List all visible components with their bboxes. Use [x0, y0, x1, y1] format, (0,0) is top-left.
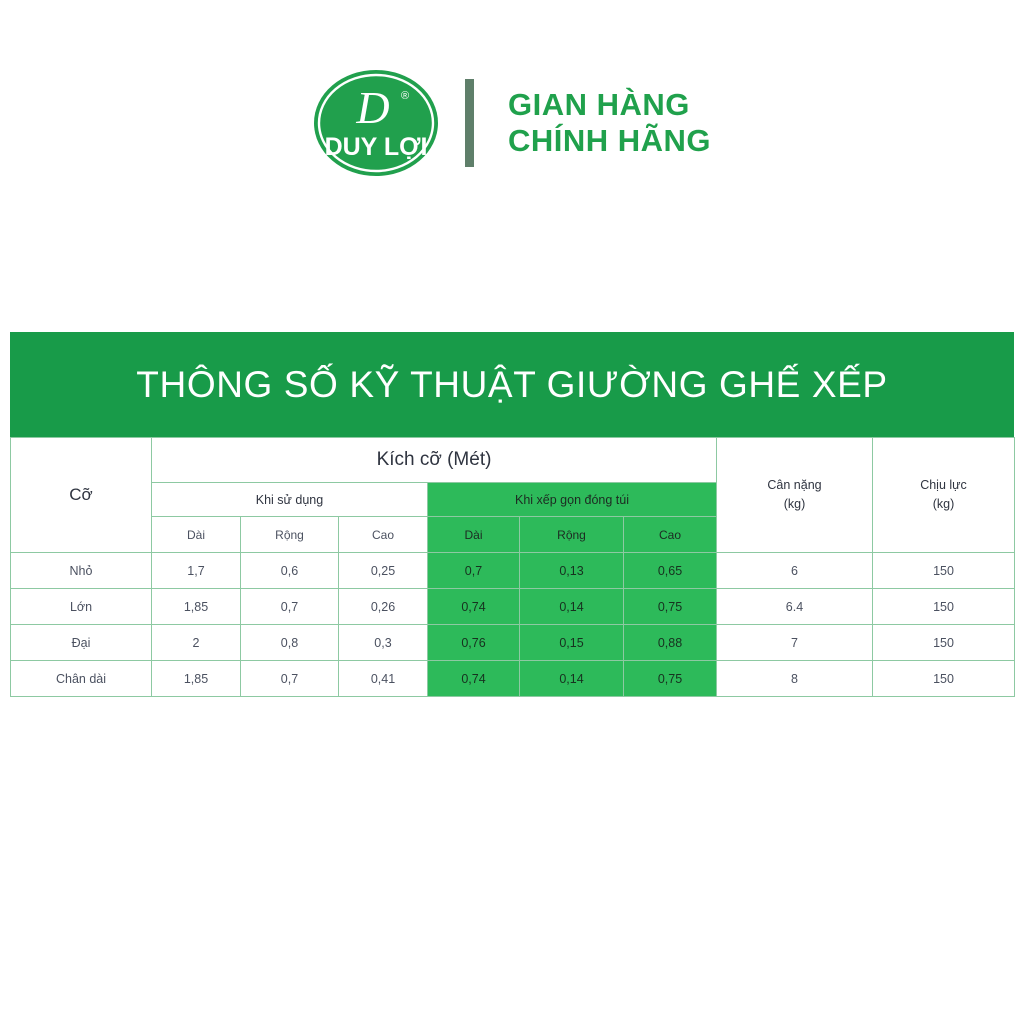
cell-bag-length: 0,74: [428, 661, 520, 697]
cell-size: Lớn: [11, 589, 152, 625]
brand-tagline: GIAN HÀNG CHÍNH HÃNG: [508, 87, 711, 158]
duy-loi-logo: D ® DUY LỢI: [313, 69, 439, 177]
spec-table-title: THÔNG SỐ KỸ THUẬT GIƯỜNG GHẾ XẾP: [10, 332, 1014, 437]
spec-table-block: THÔNG SỐ KỸ THUẬT GIƯỜNG GHẾ XẾP Cỡ Kích…: [10, 332, 1014, 697]
cell-weight: 8: [717, 661, 873, 697]
cell-load: 150: [873, 625, 1015, 661]
header-weight: Cân nặng (kg): [717, 438, 873, 553]
cell-use-width: 0,6: [241, 553, 339, 589]
header-bag-height: Cao: [624, 517, 717, 553]
svg-text:®: ®: [401, 90, 409, 102]
cell-use-width: 0,7: [241, 661, 339, 697]
header-load-line1: Chịu lực: [873, 476, 1014, 495]
cell-bag-height: 0,88: [624, 625, 717, 661]
cell-use-length: 1,85: [152, 661, 241, 697]
cell-weight: 7: [717, 625, 873, 661]
cell-use-height: 0,3: [339, 625, 428, 661]
svg-text:D: D: [355, 82, 389, 133]
cell-bag-height: 0,75: [624, 661, 717, 697]
cell-bag-width: 0,13: [520, 553, 624, 589]
svg-text:DUY LỢI: DUY LỢI: [325, 133, 428, 161]
cell-use-length: 1,7: [152, 553, 241, 589]
cell-use-height: 0,41: [339, 661, 428, 697]
cell-bag-width: 0,14: [520, 661, 624, 697]
cell-load: 150: [873, 589, 1015, 625]
table-row: Chân dài 1,85 0,7 0,41 0,74 0,14 0,75 8 …: [11, 661, 1015, 697]
header-size: Cỡ: [11, 438, 152, 553]
cell-weight: 6: [717, 553, 873, 589]
cell-use-length: 1,85: [152, 589, 241, 625]
cell-use-width: 0,8: [241, 625, 339, 661]
spec-table-head: Cỡ Kích cỡ (Mét) Cân nặng (kg) Chịu lực …: [11, 438, 1015, 553]
brand-lockup: D ® DUY LỢI GIAN HÀNG CHÍNH HÃNG: [313, 69, 711, 177]
tagline-line-1: GIAN HÀNG: [508, 87, 711, 123]
cell-load: 150: [873, 661, 1015, 697]
header-use-height: Cao: [339, 517, 428, 553]
cell-bag-height: 0,65: [624, 553, 717, 589]
cell-bag-length: 0,76: [428, 625, 520, 661]
cell-bag-length: 0,7: [428, 553, 520, 589]
spec-table-body: Nhỏ 1,7 0,6 0,25 0,7 0,13 0,65 6 150 Lớn…: [11, 553, 1015, 697]
header-weight-line1: Cân nặng: [717, 476, 872, 495]
cell-bag-width: 0,14: [520, 589, 624, 625]
tagline-line-2: CHÍNH HÃNG: [508, 123, 711, 159]
cell-weight: 6.4: [717, 589, 873, 625]
table-row: Nhỏ 1,7 0,6 0,25 0,7 0,13 0,65 6 150: [11, 553, 1015, 589]
header-use-width: Rộng: [241, 517, 339, 553]
header-use-length: Dài: [152, 517, 241, 553]
header-bag-width: Rộng: [520, 517, 624, 553]
header-folded-in-bag: Khi xếp gọn đóng túi: [428, 483, 717, 517]
header-weight-line2: (kg): [717, 495, 872, 514]
cell-use-length: 2: [152, 625, 241, 661]
cell-bag-height: 0,75: [624, 589, 717, 625]
cell-bag-width: 0,15: [520, 625, 624, 661]
header-row-group: Cỡ Kích cỡ (Mét) Cân nặng (kg) Chịu lực …: [11, 438, 1015, 483]
brand-divider: [465, 79, 474, 167]
header-bag-length: Dài: [428, 517, 520, 553]
header-load: Chịu lực (kg): [873, 438, 1015, 553]
cell-load: 150: [873, 553, 1015, 589]
cell-size: Chân dài: [11, 661, 152, 697]
brand-header: D ® DUY LỢI GIAN HÀNG CHÍNH HÃNG: [0, 60, 1024, 185]
cell-size: Nhỏ: [11, 553, 152, 589]
header-dimensions-group: Kích cỡ (Mét): [152, 438, 717, 483]
table-row: Đại 2 0,8 0,3 0,76 0,15 0,88 7 150: [11, 625, 1015, 661]
cell-use-width: 0,7: [241, 589, 339, 625]
spec-table: Cỡ Kích cỡ (Mét) Cân nặng (kg) Chịu lực …: [10, 437, 1015, 697]
cell-size: Đại: [11, 625, 152, 661]
cell-use-height: 0,26: [339, 589, 428, 625]
cell-use-height: 0,25: [339, 553, 428, 589]
header-load-line2: (kg): [873, 495, 1014, 514]
table-row: Lớn 1,85 0,7 0,26 0,74 0,14 0,75 6.4 150: [11, 589, 1015, 625]
header-in-use: Khi sử dụng: [152, 483, 428, 517]
cell-bag-length: 0,74: [428, 589, 520, 625]
